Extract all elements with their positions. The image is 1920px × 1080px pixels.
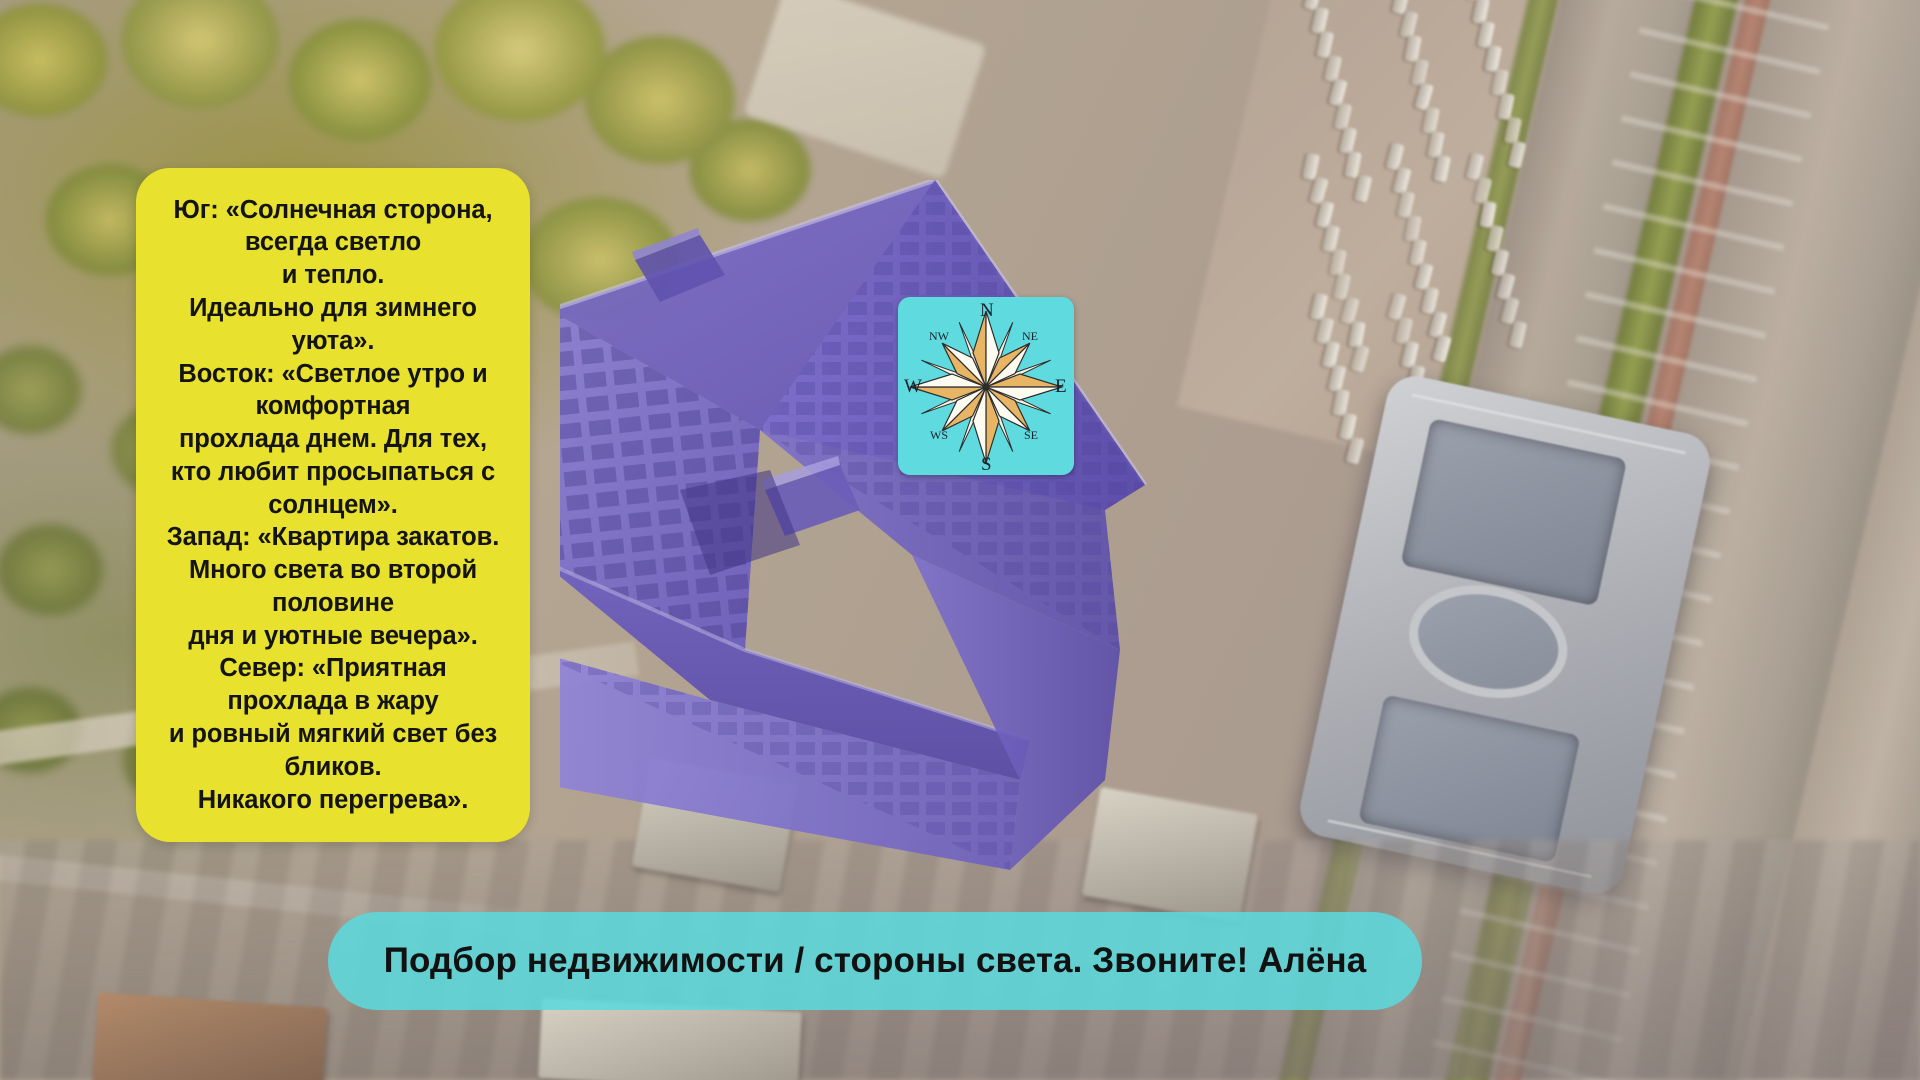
lowrise-building [538,998,802,1080]
orientation-info-text: Юг: «Солнечная сторона, всегда светло и … [136,194,530,817]
compass-label-east: E [1055,377,1067,396]
contact-banner-text: Подбор недвижимости / стороны света. Зво… [384,941,1367,981]
orientation-info-panel: Юг: «Солнечная сторона, всегда светло и … [136,168,530,842]
compass-rose-icon [898,297,1074,475]
compass-label-southeast: SE [1024,429,1038,441]
compass-label-west: W [904,377,922,396]
compass-rose-card: N E S W NW NE WS SE [898,297,1074,475]
compass-label-south: S [981,455,992,474]
compass-label-northwest: NW [929,330,949,342]
highlighted-building-overlay [560,180,1260,900]
compass-label-north: N [980,301,994,320]
lowrise-building [92,992,328,1080]
compass-label-southwest: WS [930,429,948,441]
contact-banner[interactable]: Подбор недвижимости / стороны света. Зво… [328,912,1422,1010]
compass-label-northeast: NE [1022,330,1038,342]
